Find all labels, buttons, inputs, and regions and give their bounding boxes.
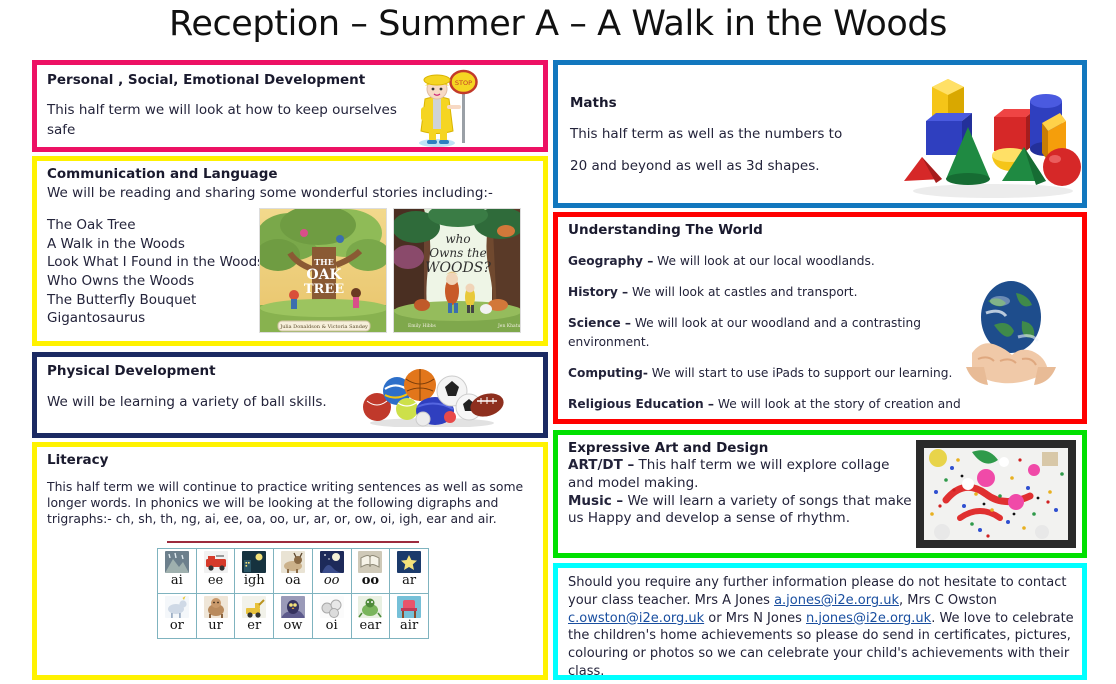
expressive-art-row: ART/DT – This half term we will explore …: [568, 457, 918, 493]
svg-text:OAK: OAK: [306, 267, 342, 283]
unicorn-image: [165, 596, 189, 618]
expressive-heading: Expressive Art and Design: [568, 440, 918, 457]
phonics-label: ee: [197, 574, 235, 588]
phonics-cell: ai: [158, 549, 197, 594]
email-link-a-jones[interactable]: a.jones@i2e.org.uk: [774, 593, 899, 608]
panel-literacy: Literacy This half term we will continue…: [32, 442, 548, 680]
phonics-cell: oo: [351, 549, 390, 594]
lollipop-crossing-guard-image: STOP: [407, 69, 483, 147]
understanding-row-religious-education: Religious Education – We will look at th…: [568, 395, 998, 413]
panel-maths: Maths This half term as well as the numb…: [553, 60, 1087, 208]
svg-text:Emily Hibbs: Emily Hibbs: [408, 323, 437, 329]
phonics-cell: oa: [274, 549, 313, 594]
night-image: [242, 551, 266, 573]
ear-image: [358, 596, 382, 618]
maths-line-2: 20 and beyond as well as 3d shapes.: [570, 156, 930, 176]
phonics-cell: ow: [274, 594, 313, 639]
understanding-heading: Understanding The World: [568, 222, 998, 239]
row-text: We will look at castles and transport.: [628, 285, 857, 299]
phonics-cell: igh: [235, 549, 274, 594]
table-row: or ur er ow: [158, 594, 429, 639]
email-link-n-jones[interactable]: n.jones@i2e.org.uk: [806, 611, 931, 626]
phonics-cell: or: [158, 594, 197, 639]
email-link-c-owston[interactable]: c.owston@i2e.org.uk: [568, 611, 704, 626]
communication-heading: Communication and Language: [47, 166, 527, 183]
row-label: ART/DT –: [568, 457, 634, 473]
book-image: [358, 551, 382, 573]
fire-engine-image: [204, 551, 228, 573]
svg-text:THE: THE: [314, 257, 334, 267]
sports-balls-image: [357, 365, 507, 427]
row-text: We will start to use iPads to support ou…: [648, 366, 952, 380]
phonics-cell: er: [235, 594, 274, 639]
physical-line-1: We will be learning a variety of ball sk…: [47, 392, 377, 412]
understanding-row-computing: Computing- We will start to use iPads to…: [568, 364, 998, 382]
nurse-image: [204, 596, 228, 618]
rain-image: [165, 551, 189, 573]
collage-craft-materials-image: [916, 440, 1076, 548]
row-label: Religious Education –: [568, 397, 714, 411]
row-text: We will look at our local woodlands.: [653, 254, 874, 268]
phonics-label: or: [158, 619, 196, 633]
phonics-cell: air: [390, 594, 429, 639]
moon-image: [320, 551, 344, 573]
physical-heading: Physical Development: [47, 363, 377, 380]
svg-text:Jen Khatun: Jen Khatun: [497, 323, 521, 329]
svg-text:STOP: STOP: [455, 79, 472, 87]
phonics-label: ow: [274, 619, 312, 633]
contact-paragraph: Should you require any further informati…: [568, 574, 1076, 675]
phonics-chart: ai ee igh o: [157, 541, 432, 639]
panel-contact-information: Should you require any further informati…: [553, 563, 1087, 680]
row-label: Computing-: [568, 366, 648, 380]
hands-holding-globe-image: [956, 275, 1066, 387]
phonics-label: oa: [274, 574, 312, 588]
book-cover-who-owns-the-woods: who Owns the WOODS?: [393, 208, 521, 333]
phonics-cell: ear: [351, 594, 390, 639]
phonics-table: ai ee igh o: [157, 548, 429, 639]
phonics-label: ar: [390, 574, 428, 588]
phonics-label: oi: [313, 619, 351, 633]
svg-text:Julia Donaldson & Victoria San: Julia Donaldson & Victoria Sandøy: [279, 324, 368, 330]
book-covers-group: THE OAK TREE Julia Donaldson & Victoria …: [259, 208, 521, 333]
phonics-label: igh: [235, 574, 273, 588]
panel-physical-development: Physical Development We will be learning…: [32, 352, 548, 438]
maths-heading: Maths: [570, 95, 930, 112]
svg-text:who: who: [445, 232, 470, 246]
psed-heading: Personal , Social, Emotional Development: [47, 72, 427, 89]
row-label: History –: [568, 285, 628, 299]
phonics-label: ur: [197, 619, 235, 633]
book-cover-the-oak-tree: THE OAK TREE Julia Donaldson & Victoria …: [259, 208, 387, 333]
panel-personal-social-emotional-development: Personal , Social, Emotional Development…: [32, 60, 548, 152]
row-label: Science –: [568, 316, 631, 330]
row-text: We will look at the story of creation an…: [714, 397, 961, 411]
phonics-cell: oi: [312, 594, 351, 639]
panel-expressive-art-and-design: Expressive Art and Design ART/DT – This …: [553, 430, 1087, 558]
3d-shapes-image: [898, 69, 1082, 199]
understanding-row-geography: Geography – We will look at our local wo…: [568, 252, 998, 270]
phonics-cell: ar: [390, 549, 429, 594]
svg-text:Owns the: Owns the: [429, 246, 486, 260]
page-title: Reception – Summer A – A Walk in the Woo…: [0, 4, 1116, 44]
svg-text:WOODS?: WOODS?: [425, 260, 491, 276]
literacy-paragraph: This half term we will continue to pract…: [47, 479, 537, 527]
digger-image: [242, 596, 266, 618]
coin-image: [320, 596, 344, 618]
phonics-divider-line: [167, 541, 419, 543]
phonics-cell: ur: [196, 594, 235, 639]
table-row: ai ee igh o: [158, 549, 429, 594]
phonics-label: oo: [352, 574, 390, 588]
literacy-heading: Literacy: [47, 452, 537, 469]
phonics-label: er: [235, 619, 273, 633]
phonics-label: ai: [158, 574, 196, 588]
chair-image: [397, 596, 421, 618]
owl-image: [281, 596, 305, 618]
star-image: [397, 551, 421, 573]
understanding-row-science: Science – We will look at our woodland a…: [568, 314, 998, 351]
phonics-cell: ee: [196, 549, 235, 594]
expressive-music-row: Music – We will learn a variety of songs…: [568, 493, 918, 529]
phonics-cell: oo: [312, 549, 351, 594]
row-label: Geography –: [568, 254, 653, 268]
phonics-label: oo: [313, 574, 351, 588]
panel-communication-and-language: Communication and Language We will be re…: [32, 156, 548, 346]
row-label: Music –: [568, 493, 623, 509]
maths-line-1: This half term as well as the numbers to: [570, 124, 930, 144]
understanding-row-history: History – We will look at castles and tr…: [568, 283, 998, 301]
svg-text:TREE: TREE: [304, 282, 344, 297]
communication-intro: We will be reading and sharing some wond…: [47, 183, 527, 203]
phonics-label: ear: [352, 619, 390, 633]
contact-text-part-3: or Mrs N Jones: [704, 611, 806, 626]
phonics-label: air: [390, 619, 428, 633]
goat-image: [281, 551, 305, 573]
panel-understanding-the-world: Understanding The World Geography – We w…: [553, 212, 1087, 424]
contact-text-part-2: , Mrs C Owston: [899, 593, 997, 608]
psed-line-1: This half term we will look at how to ke…: [47, 100, 427, 141]
newsletter-page: Reception – Summer A – A Walk in the Woo…: [0, 0, 1116, 684]
